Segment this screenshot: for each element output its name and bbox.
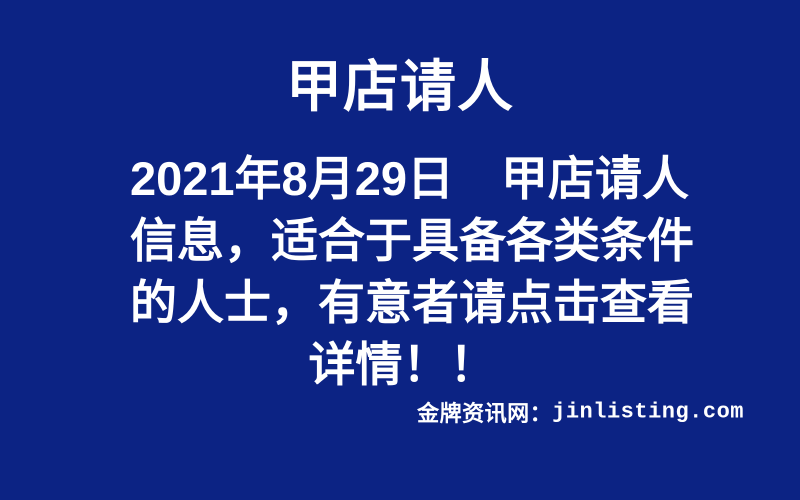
body-line-4: 详情！！ xyxy=(130,334,675,396)
site-url-label: jinlisting.com xyxy=(552,400,744,425)
page-title: 甲店请人 xyxy=(0,54,800,120)
body-line-3: 的人士，有意者请点击查看 xyxy=(130,272,675,334)
body-line-2: 信息，适合于具备各类条件 xyxy=(130,210,675,272)
body-line-1: 2021年8月29日 甲店请人 xyxy=(130,148,675,210)
site-name-label: 金牌资讯网： xyxy=(417,401,552,426)
announcement-body: 2021年8月29日 甲店请人 信息，适合于具备各类条件 的人士，有意者请点击查… xyxy=(130,148,675,396)
poster-canvas: 甲店请人 2021年8月29日 甲店请人 信息，适合于具备各类条件 的人士，有意… xyxy=(0,0,800,500)
footer-watermark: 金牌资讯网：jinlisting.com xyxy=(0,396,800,428)
